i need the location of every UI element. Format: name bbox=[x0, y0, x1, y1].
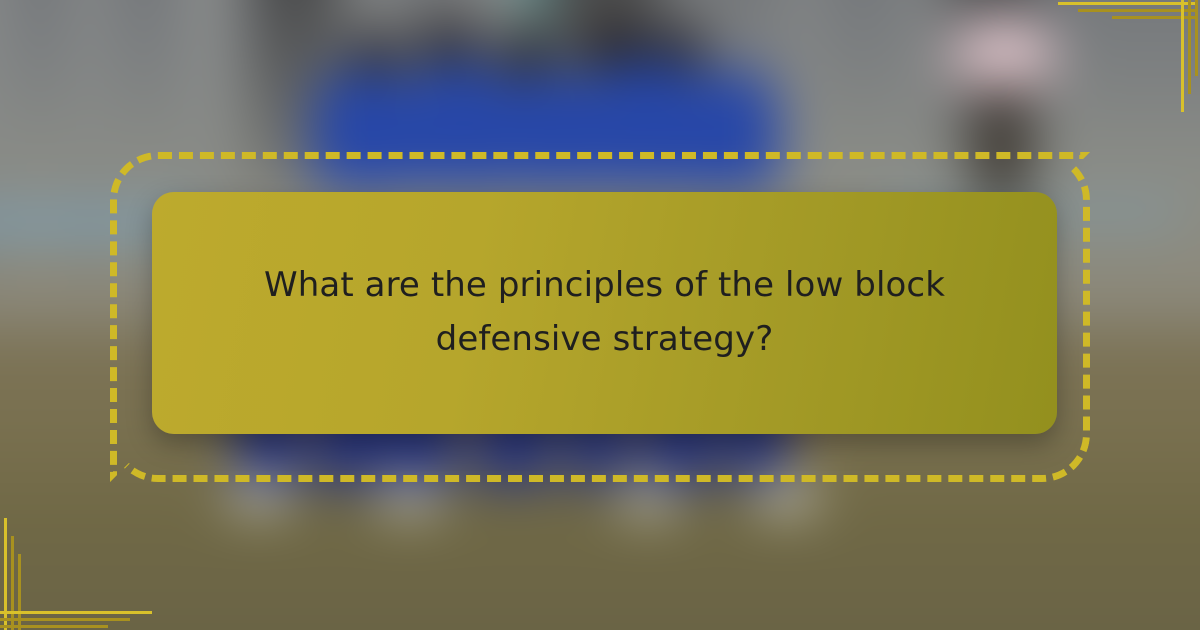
question-text: What are the principles of the low block… bbox=[255, 259, 955, 366]
spectator-pink-figure bbox=[948, 16, 1058, 96]
question-card: What are the principles of the low block… bbox=[152, 192, 1057, 434]
player-shoe bbox=[756, 484, 816, 510]
share-card-canvas: What are the principles of the low block… bbox=[0, 0, 1200, 630]
player-shoe bbox=[378, 486, 440, 510]
player-shoe bbox=[620, 488, 676, 512]
player-shoe bbox=[230, 482, 288, 508]
